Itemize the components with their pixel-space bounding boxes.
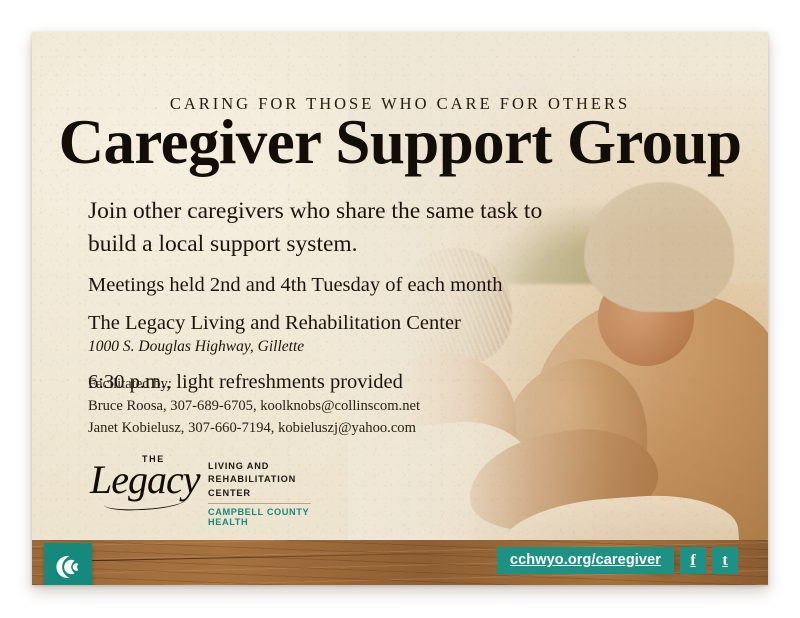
- cch-swoosh-icon: [53, 552, 83, 582]
- campbell-county-health-text: CAMPBELL COUNTY HEALTH: [208, 507, 311, 527]
- facebook-icon[interactable]: f: [680, 547, 706, 574]
- poster-canvas: CARING FOR THOSE WHO CARE FOR OTHERS Car…: [32, 32, 768, 585]
- wood-grain-crack: [54, 551, 524, 562]
- legacy-wordmark: Legacy THE: [90, 450, 202, 508]
- meetings-line: Meetings held 2nd and 4th Tuesday of eac…: [88, 272, 558, 299]
- cch-logo-tile: [44, 543, 92, 585]
- legacy-logo: Legacy THE LIVING AND REHABILITATION CEN…: [90, 450, 202, 508]
- legacy-line-2: REHABILITATION CENTER: [208, 473, 311, 500]
- legacy-tagline-block: LIVING AND REHABILITATION CENTER CAMPBEL…: [208, 460, 311, 527]
- footer-links: cchwyo.org/caregiver f t: [497, 547, 738, 574]
- legacy-the-text: THE: [142, 454, 165, 464]
- page-title: Caregiver Support Group: [32, 110, 768, 176]
- legacy-swash-flourish: [104, 493, 187, 512]
- facilitator-contact-2: Janet Kobielusz, 307-660-7194, kobielusz…: [88, 417, 420, 439]
- facilitator-block: Facilitated by: Bruce Roosa, 307-689-670…: [88, 373, 420, 440]
- legacy-line-1: LIVING AND: [208, 460, 311, 473]
- twitter-icon[interactable]: t: [712, 547, 738, 574]
- website-url-badge[interactable]: cchwyo.org/caregiver: [497, 547, 674, 574]
- facilitator-heading: Facilitated by:: [88, 373, 420, 395]
- lead-paragraph: Join other caregivers who share the same…: [88, 195, 558, 260]
- facilitator-contact-1: Bruce Roosa, 307-689-6705, koolknobs@col…: [88, 395, 420, 417]
- poster-content: CARING FOR THOSE WHO CARE FOR OTHERS Car…: [32, 32, 768, 585]
- legacy-divider-rule: [208, 503, 311, 504]
- address-line: 1000 S. Douglas Highway, Gillette: [88, 338, 558, 356]
- venue-line: The Legacy Living and Rehabilitation Cen…: [88, 311, 558, 337]
- details-block: Join other caregivers who share the same…: [88, 195, 558, 395]
